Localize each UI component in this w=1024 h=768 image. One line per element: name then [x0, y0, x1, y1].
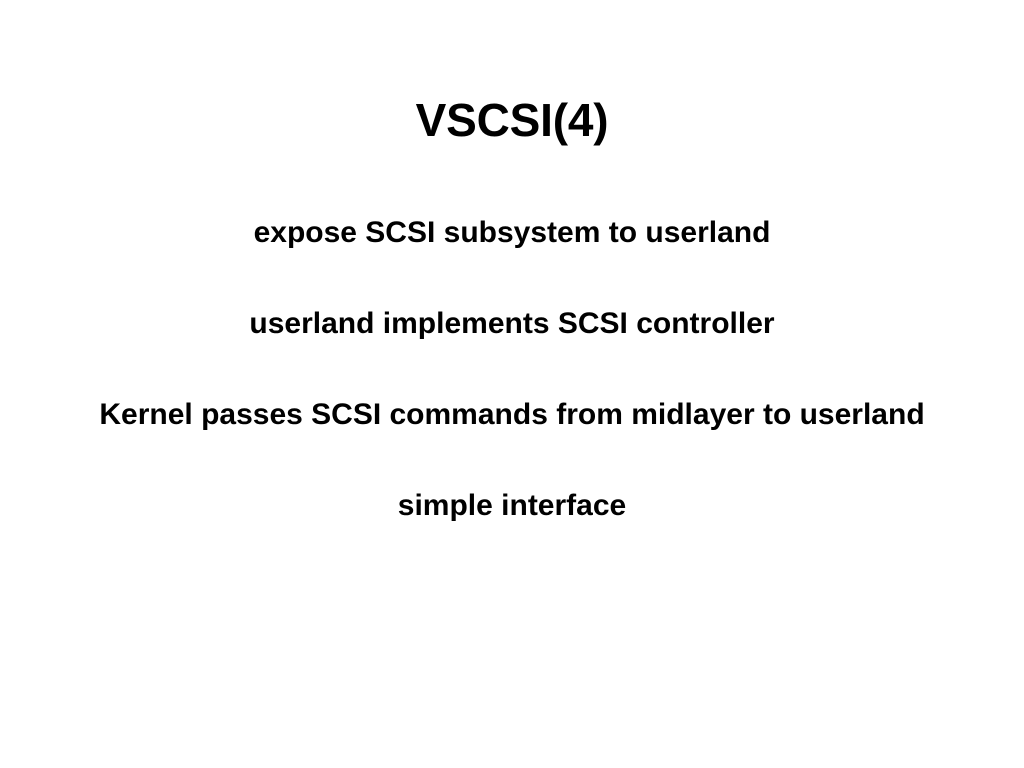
- slide-bullet-line: expose SCSI subsystem to userland: [0, 214, 1024, 252]
- presentation-slide: VSCSI(4) expose SCSI subsystem to userla…: [0, 0, 1024, 768]
- slide-bullet-line: Kernel passes SCSI commands from midlaye…: [0, 396, 1024, 434]
- slide-bullet-line: userland implements SCSI controller: [0, 305, 1024, 343]
- slide-body: expose SCSI subsystem to userland userla…: [0, 214, 1024, 525]
- slide-title: VSCSI(4): [0, 92, 1024, 148]
- slide-bullet-line: simple interface: [0, 487, 1024, 525]
